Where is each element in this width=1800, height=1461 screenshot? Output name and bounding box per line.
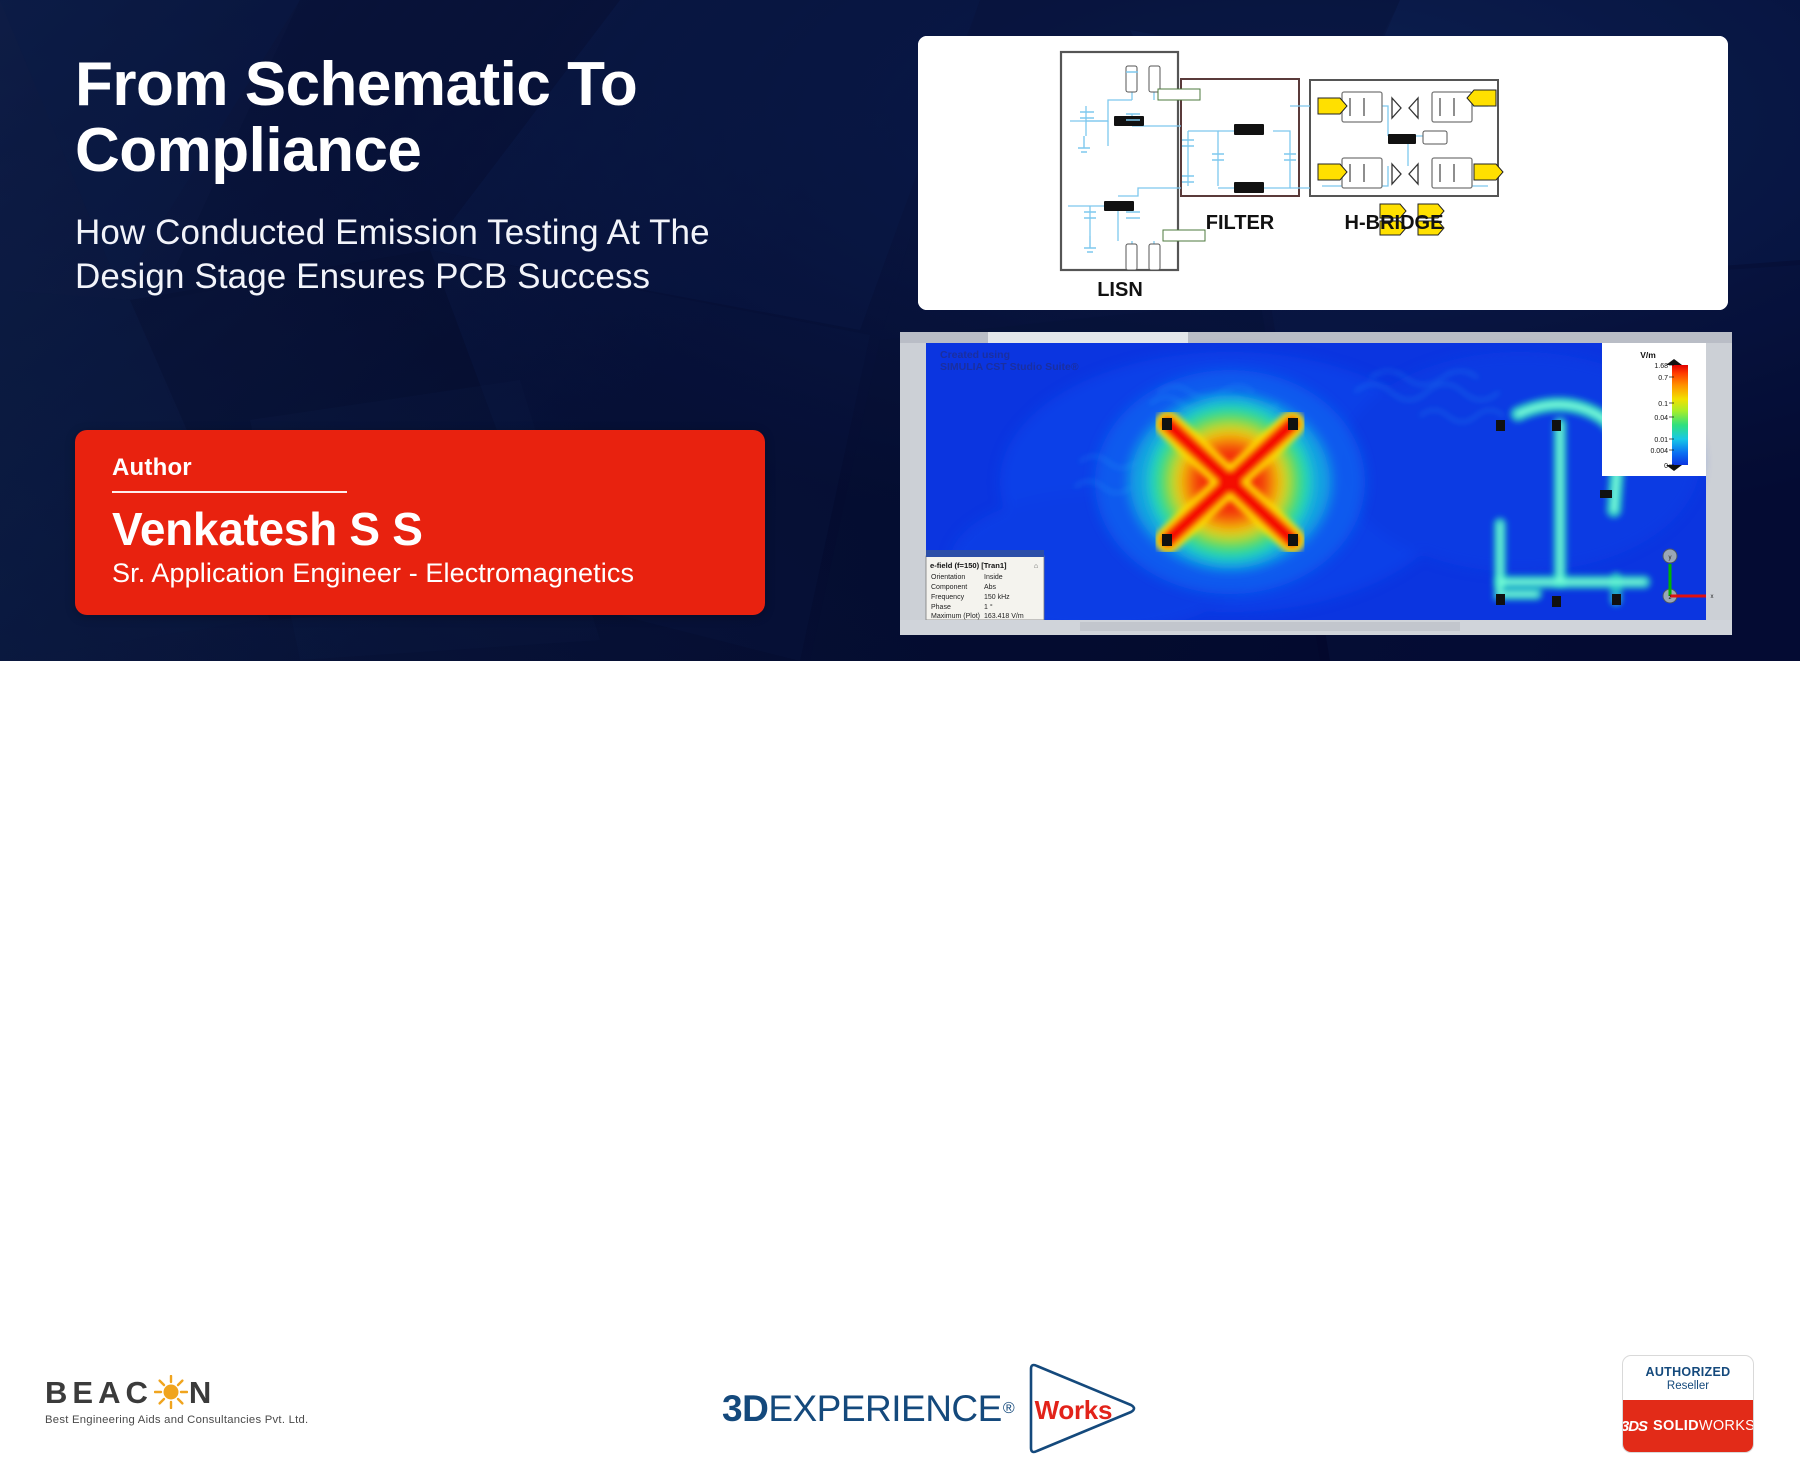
sim-row-val-1: Abs	[984, 584, 997, 591]
logo-3d-text: 3D	[722, 1388, 768, 1430]
3dexperience-works-logo: 3D EXPERIENCE ® Works	[722, 1361, 1139, 1456]
logo-works-text: Works	[1035, 1395, 1113, 1426]
colorbar-unit: V/m	[1640, 350, 1656, 360]
sim-row-val-0: Inside	[984, 574, 1003, 581]
logo-experience-text: EXPERIENCE	[768, 1388, 1002, 1430]
badge-top: AUTHORIZED Reseller	[1623, 1356, 1753, 1400]
badge-bottom: 3DS SOLIDWORKS	[1623, 1400, 1753, 1452]
svg-text:z: z	[1669, 595, 1672, 601]
schematic-label-hbridge: H-BRIDGE	[1345, 212, 1444, 234]
registered-mark-icon: ®	[1003, 1400, 1015, 1418]
svg-text:x: x	[1711, 594, 1714, 600]
page-title: From Schematic To Compliance	[75, 52, 815, 185]
colorbar-tick-4: 0.01	[1654, 437, 1668, 444]
colorbar-tick-3: 0.04	[1654, 415, 1668, 422]
schematic-label-lisn: LISN	[1097, 279, 1143, 301]
schematic-panel: LISN FILTER H-BRIDGE	[918, 36, 1728, 310]
sim-row-val-4: 163.418 V/m	[984, 613, 1024, 620]
page-subtitle: How Conducted Emission Testing At The De…	[75, 211, 815, 299]
hero-section: From Schematic To Compliance How Conduct…	[0, 0, 1800, 661]
footer-section: BEAC	[0, 661, 1800, 819]
author-label: Author	[112, 454, 192, 482]
author-card: Author Venkatesh S S Sr. Application Eng…	[75, 430, 765, 615]
dassault-3ds-icon: 3DS	[1622, 1418, 1647, 1435]
hero-text-block: From Schematic To Compliance How Conduct…	[75, 52, 815, 299]
colorbar-tick-5: 0.004	[1650, 448, 1668, 455]
colorbar-tick-6: 0	[1664, 463, 1668, 470]
simulation-panel: Created using SIMULIA CST Studio Suite® …	[900, 332, 1732, 635]
sun-icon	[154, 1375, 188, 1409]
sim-result-title: e-field (f=150) [Tran1]	[930, 561, 1007, 570]
sim-collapse-icon[interactable]: ⌂	[1034, 563, 1038, 570]
sim-row-key-1: Component	[931, 584, 967, 591]
sim-row-val-3: 1 °	[984, 603, 993, 611]
sim-watermark-line1: Created using	[940, 349, 1010, 361]
author-name: Venkatesh S S	[112, 502, 423, 556]
colorbar-tick-2: 0.1	[1658, 401, 1668, 408]
svg-text:y: y	[1669, 555, 1672, 561]
solidworks-authorized-reseller-badge: AUTHORIZED Reseller 3DS SOLIDWORKS	[1622, 1355, 1754, 1453]
triangle-play-icon: Works	[1021, 1361, 1139, 1456]
sim-row-key-0: Orientation	[931, 574, 965, 581]
solidworks-light-part: WORKS	[1699, 1418, 1754, 1434]
sim-row-key-4: Maximum (Plot)	[931, 613, 980, 620]
beacon-word-part1: BEAC	[45, 1377, 153, 1408]
colorbar-tick-0: 1.68	[1654, 363, 1668, 370]
sim-result-box: e-field (f=150) [Tran1] ⌂ Orientation In…	[926, 550, 1044, 620]
author-divider	[112, 491, 347, 493]
sim-row-key-3: Phase	[931, 604, 951, 611]
sim-row-val-2: 150 kHz	[984, 594, 1010, 601]
poster: From Schematic To Compliance How Conduct…	[0, 0, 1800, 819]
colorbar-tick-1: 0.7	[1658, 375, 1668, 382]
beacon-word-part2: N	[189, 1377, 216, 1408]
author-role: Sr. Application Engineer - Electromagnet…	[112, 558, 634, 589]
badge-authorized-text: AUTHORIZED	[1646, 1365, 1731, 1379]
badge-reseller-text: Reseller	[1667, 1380, 1709, 1392]
solidworks-bold-part: SOLID	[1653, 1418, 1699, 1434]
sim-row-key-2: Frequency	[931, 594, 965, 601]
beacon-tagline: Best Engineering Aids and Consultancies …	[45, 1414, 308, 1426]
colorbar-legend: V/m 1.68 0.7 0.1 0.04 0.01 0.004 0	[1602, 343, 1706, 476]
sim-watermark-line2: SIMULIA CST Studio Suite®	[940, 361, 1079, 373]
solidworks-wordmark: SOLIDWORKS	[1653, 1418, 1754, 1434]
schematic-label-filter: FILTER	[1206, 212, 1275, 234]
beacon-logo: BEAC	[45, 1375, 308, 1426]
